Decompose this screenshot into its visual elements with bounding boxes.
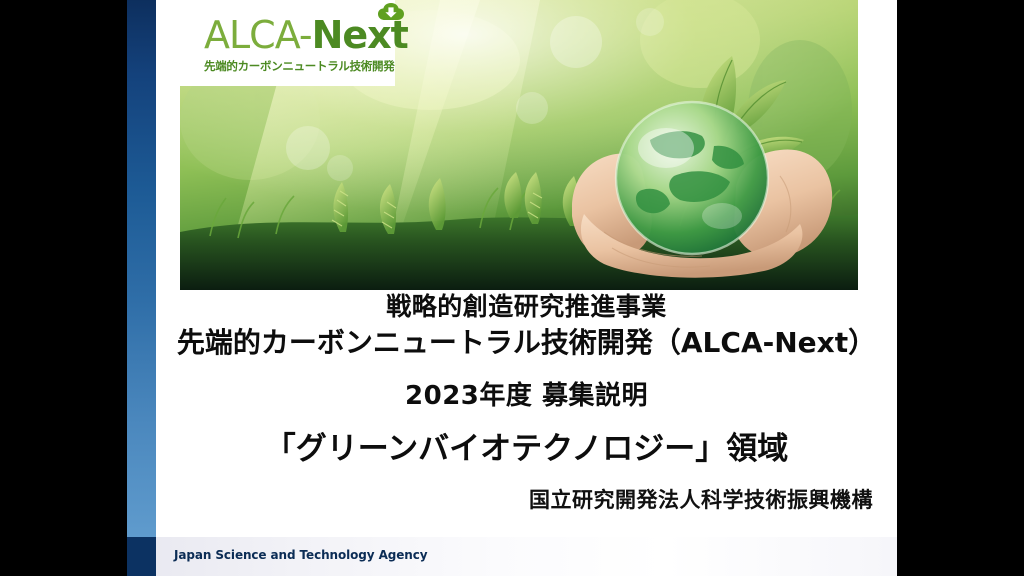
slide-viewer: ALCA-Next 先端的カーボンニュートラル技術開発 戦略的創造研究推進事業 … bbox=[0, 0, 1024, 576]
slide-footer: Japan Science and Technology Agency bbox=[127, 537, 897, 576]
logo-subtitle: 先端的カーボンニュートラル技術開発 bbox=[204, 58, 394, 74]
logo-wordmark: ALCA-Next bbox=[204, 16, 408, 54]
logo-word-light: ALCA- bbox=[204, 13, 312, 57]
presentation-slide: ALCA-Next 先端的カーボンニュートラル技術開発 戦略的創造研究推進事業 … bbox=[127, 0, 897, 576]
title-line-2: 先端的カーボンニュートラル技術開発（ALCA-Next） bbox=[156, 326, 897, 359]
left-accent-spine bbox=[127, 0, 156, 537]
leaf-cloud-down-arrow-icon bbox=[378, 3, 404, 25]
title-line-1: 戦略的創造研究推進事業 bbox=[156, 292, 897, 322]
organization-name: 国立研究開発法人科学技術振興機構 bbox=[529, 484, 873, 514]
title-line-4: 「グリーンバイオテクノロジー」領域 bbox=[156, 431, 897, 468]
title-block: 戦略的創造研究推進事業 先端的カーボンニュートラル技術開発（ALCA-Next）… bbox=[156, 292, 897, 468]
footer-accent-block bbox=[127, 537, 156, 576]
footer-agency-name: Japan Science and Technology Agency bbox=[174, 548, 427, 562]
title-line-3: 2023年度 募集説明 bbox=[156, 381, 897, 412]
alca-next-logo: ALCA-Next 先端的カーボンニュートラル技術開発 bbox=[180, 0, 395, 86]
